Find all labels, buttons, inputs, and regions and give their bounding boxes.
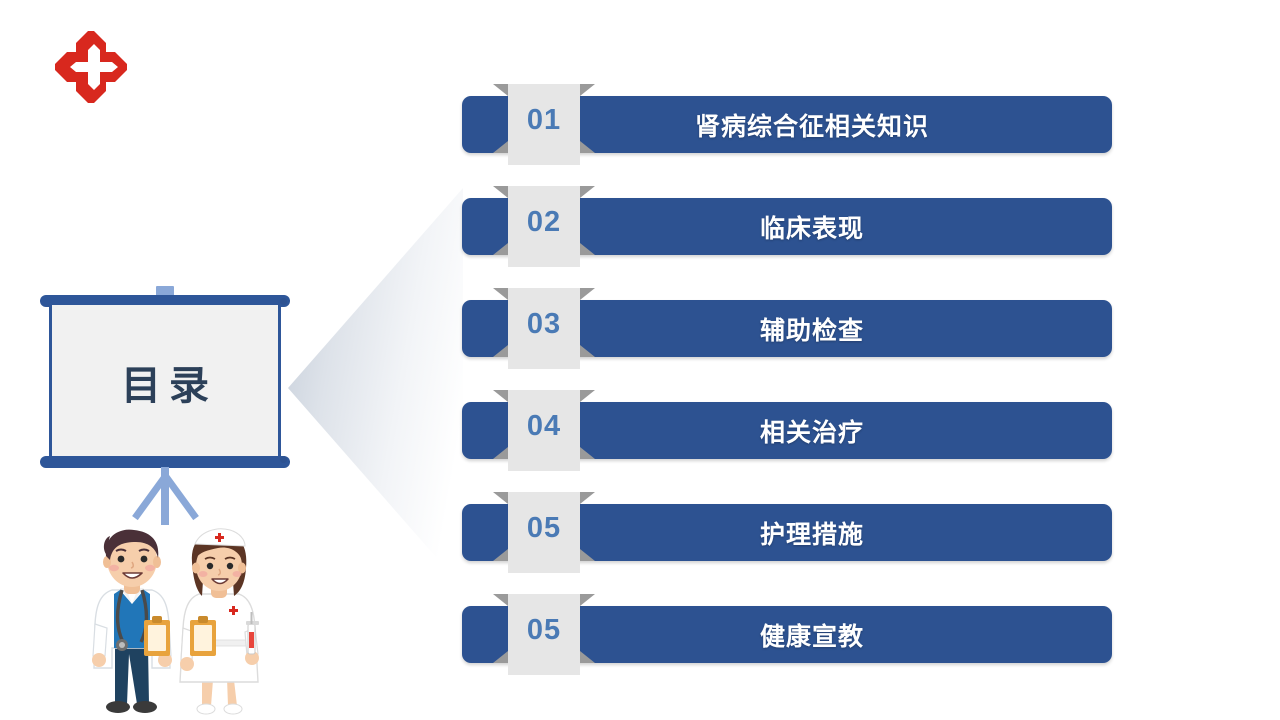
badge-fold-top-left [493,390,508,402]
list-item[interactable]: 相关治疗 04 [462,402,1112,459]
list-item[interactable]: 健康宣教 05 [462,606,1112,663]
badge-fold-top-right [580,492,595,504]
badge-fold-top-left [493,186,508,198]
item-label: 肾病综合征相关知识 [562,96,1062,153]
badge-fold-top-right [580,390,595,402]
badge-fold-top-right [580,288,595,300]
item-number-badge: 03 [508,288,580,369]
doctor-nurse-icon [82,528,277,720]
badge-fold-top-right [580,186,595,198]
item-number: 04 [508,390,580,471]
item-number: 05 [508,492,580,573]
item-number-badge: 05 [508,594,580,675]
slide-canvas: 目录 肾病综合征相关知识 01 临床表现 [0,0,1280,720]
item-label: 护理措施 [562,504,1062,561]
badge-fold-top-left [493,84,508,96]
item-label: 相关治疗 [562,402,1062,459]
item-number: 03 [508,288,580,369]
item-number: 01 [508,84,580,165]
doctor-and-nurse-illustration [82,528,277,720]
list-item[interactable]: 辅助检查 03 [462,300,1112,357]
item-number: 02 [508,186,580,267]
item-label: 辅助检查 [562,300,1062,357]
list-item[interactable]: 护理措施 05 [462,504,1112,561]
item-number-badge: 01 [508,84,580,165]
badge-fold-top-right [580,84,595,96]
item-label: 临床表现 [562,198,1062,255]
item-label: 健康宣教 [562,606,1062,663]
item-number: 05 [508,594,580,675]
badge-fold-top-left [493,288,508,300]
item-number-badge: 05 [508,492,580,573]
item-number-badge: 02 [508,186,580,267]
list-item[interactable]: 临床表现 02 [462,198,1112,255]
badge-fold-top-left [493,594,508,606]
list-item[interactable]: 肾病综合征相关知识 01 [462,96,1112,153]
badge-fold-top-left [493,492,508,504]
badge-fold-top-right [580,594,595,606]
item-number-badge: 04 [508,390,580,471]
